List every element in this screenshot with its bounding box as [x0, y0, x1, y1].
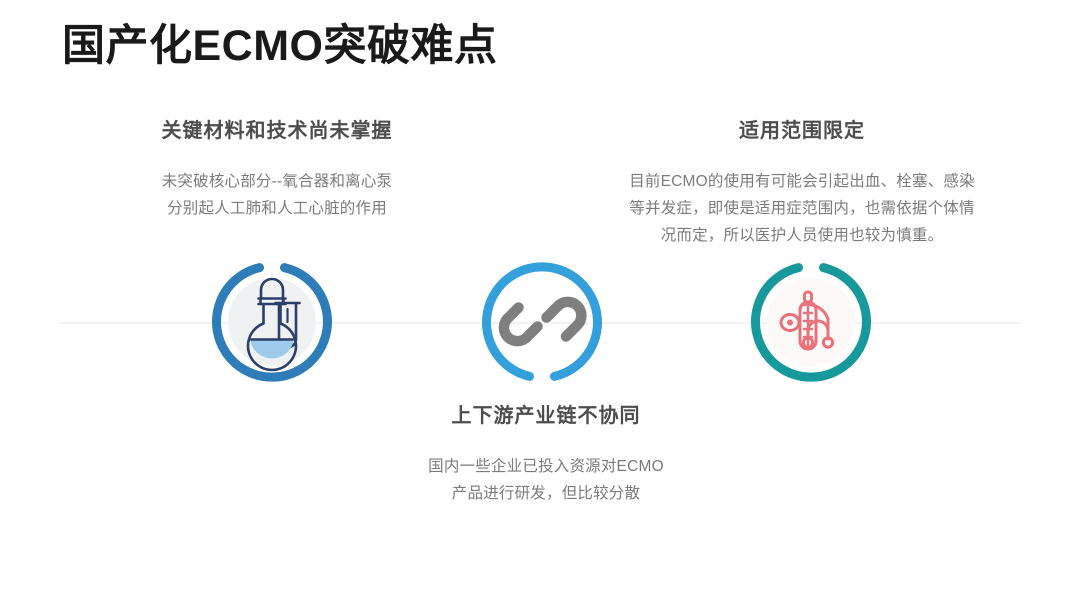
body-line: 分别起人工肺和人工心脏的作用 — [167, 200, 387, 217]
block-body-limited-scope: 目前ECMO的使用有可能会引起出血、栓塞、感染 等并发症，即使是适用症范围内，也… — [592, 168, 1012, 249]
page-title: 国产化ECMO突破难点 — [62, 22, 498, 71]
body-line: 产品进行研发，但比较分散 — [452, 485, 640, 502]
block-limited-scope: 适用范围限定 目前ECMO的使用有可能会引起出血、栓塞、感染 等并发症，即使是适… — [592, 118, 1012, 249]
chain-icon-badge — [479, 259, 605, 385]
block-heading-key-materials: 关键材料和技术尚未掌握 — [92, 118, 462, 144]
block-body-supply-chain: 国内一些企业已投入资源对ECMO 产品进行研发，但比较分散 — [360, 453, 732, 507]
medical-icon-badge — [748, 259, 874, 385]
body-line: 等并发症，即使是适用症范围内，也需依据个体情 — [629, 200, 974, 217]
body-line: 国内一些企业已投入资源对ECMO — [428, 458, 664, 475]
block-heading-limited-scope: 适用范围限定 — [592, 118, 1012, 144]
block-heading-supply-chain: 上下游产业链不协同 — [360, 403, 732, 429]
body-line: 未突破核心部分--氧合器和离心泵 — [162, 173, 393, 190]
body-line: 目前ECMO的使用有可能会引起出血、栓塞、感染 — [629, 173, 975, 190]
body-line: 况而定，所以医护人员使用也较为慎重。 — [661, 227, 944, 244]
block-body-key-materials: 未突破核心部分--氧合器和离心泵 分别起人工肺和人工心脏的作用 — [92, 168, 462, 222]
block-supply-chain: 上下游产业链不协同 国内一些企业已投入资源对ECMO 产品进行研发，但比较分散 — [360, 403, 732, 507]
block-key-materials: 关键材料和技术尚未掌握 未突破核心部分--氧合器和离心泵 分别起人工肺和人工心脏… — [92, 118, 462, 222]
flask-icon-badge — [209, 259, 335, 385]
